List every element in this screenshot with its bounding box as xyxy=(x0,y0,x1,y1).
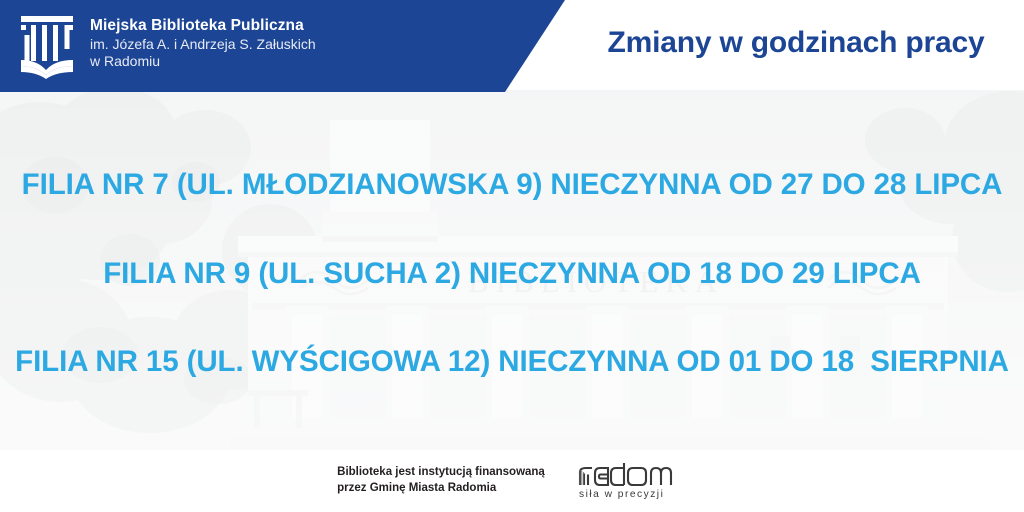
notice-line: FILIA NR 9 (UL. SUCHA 2) NIECZYNNA OD 18… xyxy=(0,259,1024,289)
radom-tagline: siła w precyzji xyxy=(579,489,664,500)
footer-bar: Biblioteka jest instytucją finansowaną p… xyxy=(0,450,1024,512)
header-bar: Miejska Biblioteka Publiczna im. Józefa … xyxy=(0,0,1024,92)
brand-patron: im. Józefa A. i Andrzeja S. Załuskich xyxy=(90,36,316,54)
funding-statement: Biblioteka jest instytucją finansowaną p… xyxy=(337,465,545,497)
brand-text: Miejska Biblioteka Publiczna im. Józefa … xyxy=(90,13,316,71)
page-title: Zmiany w godzinach pracy xyxy=(586,26,1006,60)
brand-block: Miejska Biblioteka Publiczna im. Józefa … xyxy=(18,13,316,79)
poster-canvas: BIBLIOTEKA xyxy=(0,0,1024,512)
radom-city-logo-icon: siła w precyzji xyxy=(575,461,687,501)
funding-line-1: Biblioteka jest instytucją finansowaną xyxy=(337,465,545,481)
brand-city: w Radomiu xyxy=(90,53,316,71)
notice-line: FILIA NR 15 (UL. WYŚCIGOWA 12) NIECZYNNA… xyxy=(0,347,1024,377)
library-column-book-logo-icon xyxy=(18,13,76,79)
funding-line-2: przez Gminę Miasta Radomia xyxy=(337,481,545,497)
notice-line: FILIA NR 7 (UL. MŁODZIANOWSKA 9) NIECZYN… xyxy=(0,170,1024,200)
brand-name: Miejska Biblioteka Publiczna xyxy=(90,16,316,36)
notice-list: FILIA NR 7 (UL. MŁODZIANOWSKA 9) NIECZYN… xyxy=(0,90,1024,450)
